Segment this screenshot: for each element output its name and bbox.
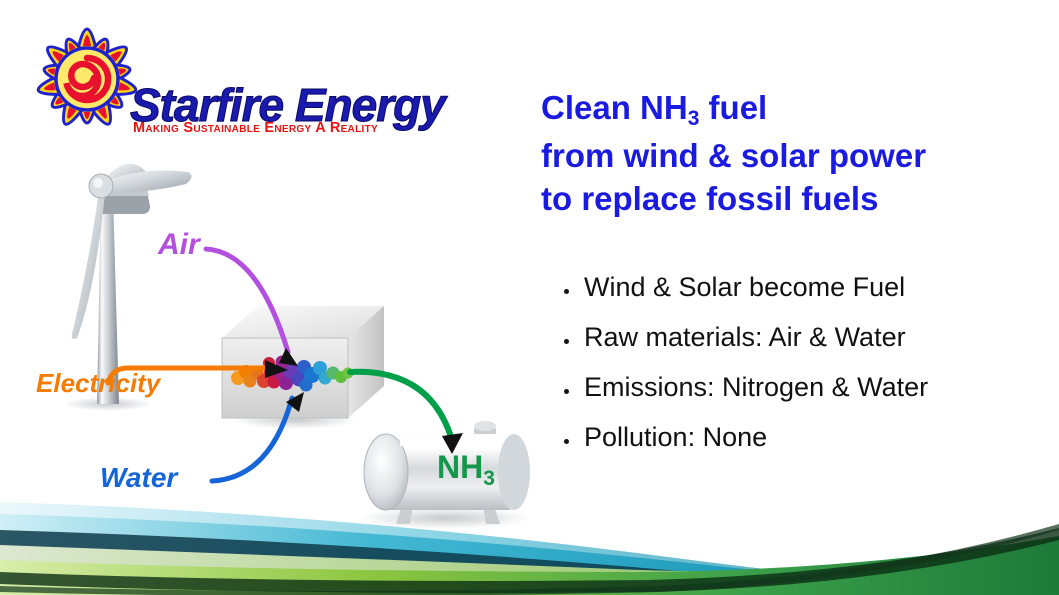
decorative-wave-band — [0, 0, 1059, 595]
presentation-slide: Starfire Energy Making Sustainable Energ… — [0, 0, 1059, 595]
